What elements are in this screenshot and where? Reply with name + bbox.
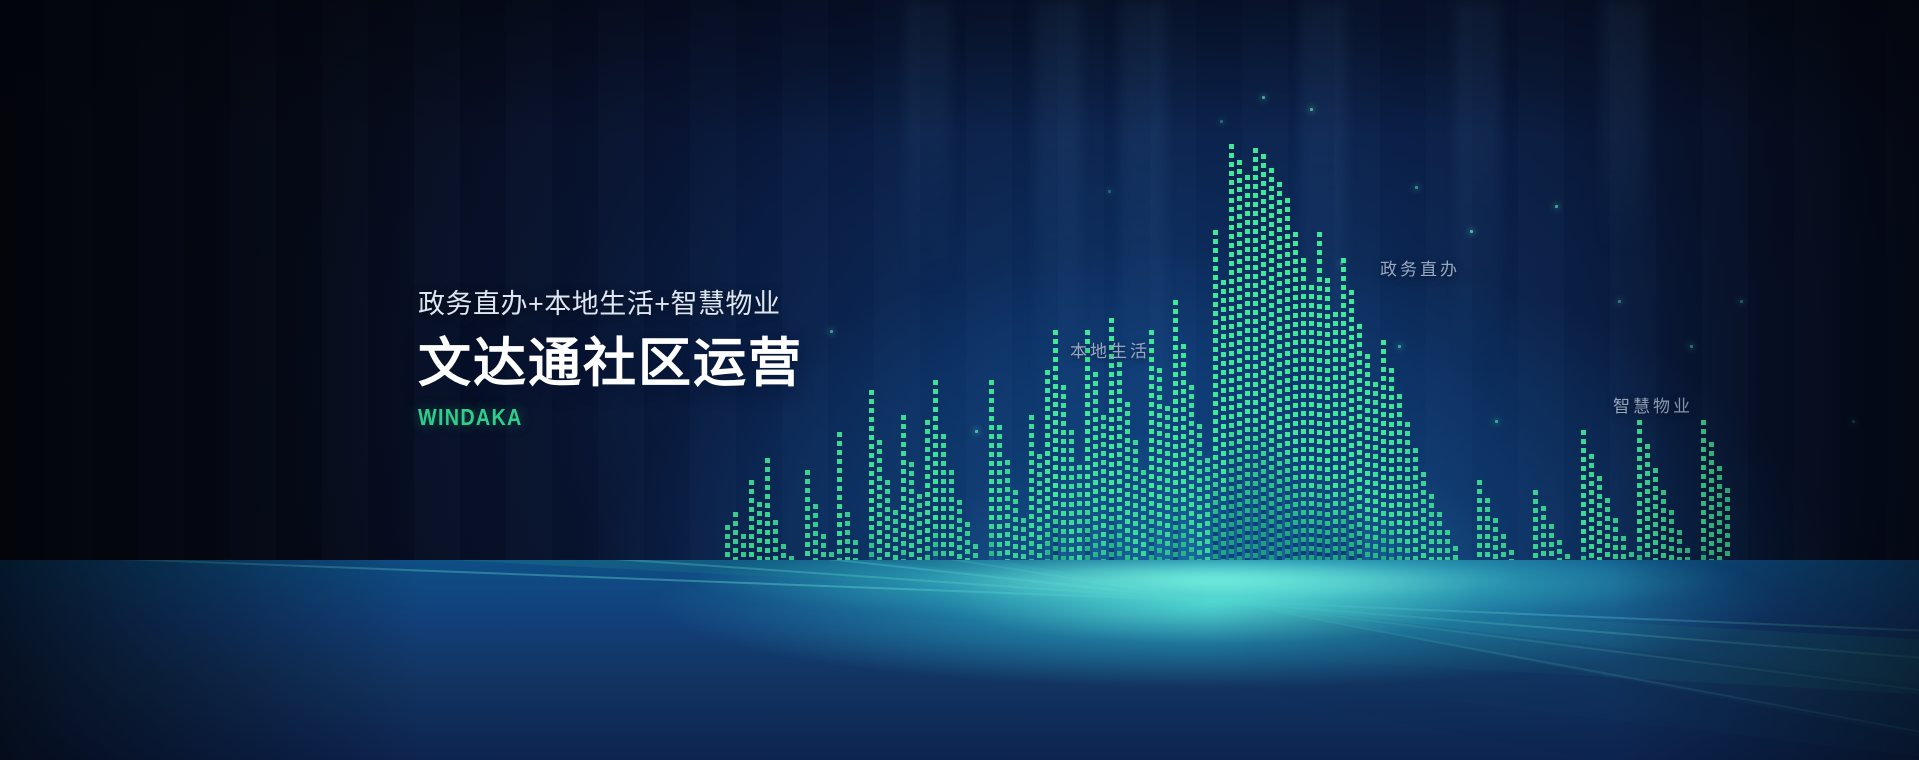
sparkle-dot: [1690, 345, 1693, 348]
tag-zhengwuzhiban: 政务直办: [1380, 255, 1460, 280]
sparkle-dot: [830, 330, 833, 333]
sparkle-dot: [1108, 190, 1111, 193]
sparkle-dot: [1618, 300, 1621, 303]
copy-block: 政务直办+本地生活+智慧物业 文达通社区运营 WINDAKA: [418, 288, 803, 431]
sparkle-dot: [1740, 300, 1743, 303]
sparkle-dot: [1852, 420, 1855, 423]
sparkle-dot: [1262, 96, 1265, 99]
horizon-glow: [480, 560, 1919, 638]
pixel-bar-chart: [0, 0, 1919, 630]
bar-column: [1229, 144, 1234, 630]
sparkle-dot: [1415, 186, 1418, 189]
sparkle-dot: [1220, 120, 1223, 123]
perspective-ground: [0, 560, 1919, 760]
sparkle-dot: [1495, 420, 1498, 423]
banner-headline: 文达通社区运营: [418, 334, 803, 393]
sparkle-dot: [1310, 108, 1313, 111]
sparkle-dot: [1470, 230, 1473, 233]
hero-banner: 政务直办 本地生活 智慧物业 政务直办+本地生活+智慧物业 文达通社区运营 WI…: [0, 0, 1919, 760]
brand-wordmark: WINDAKA: [418, 404, 749, 431]
banner-subtitle: 政务直办+本地生活+智慧物业: [418, 288, 803, 320]
tag-bendishenghuo: 本地生活: [1070, 337, 1150, 362]
sparkle-dot: [1555, 205, 1558, 208]
tag-zhihuiwuye: 智慧物业: [1613, 392, 1693, 417]
sparkle-dot: [975, 430, 978, 433]
sparkle-dot: [1340, 262, 1343, 265]
sparkle-dot: [1398, 345, 1401, 348]
bar-column: [1253, 148, 1258, 630]
bar-column: [1261, 154, 1266, 630]
